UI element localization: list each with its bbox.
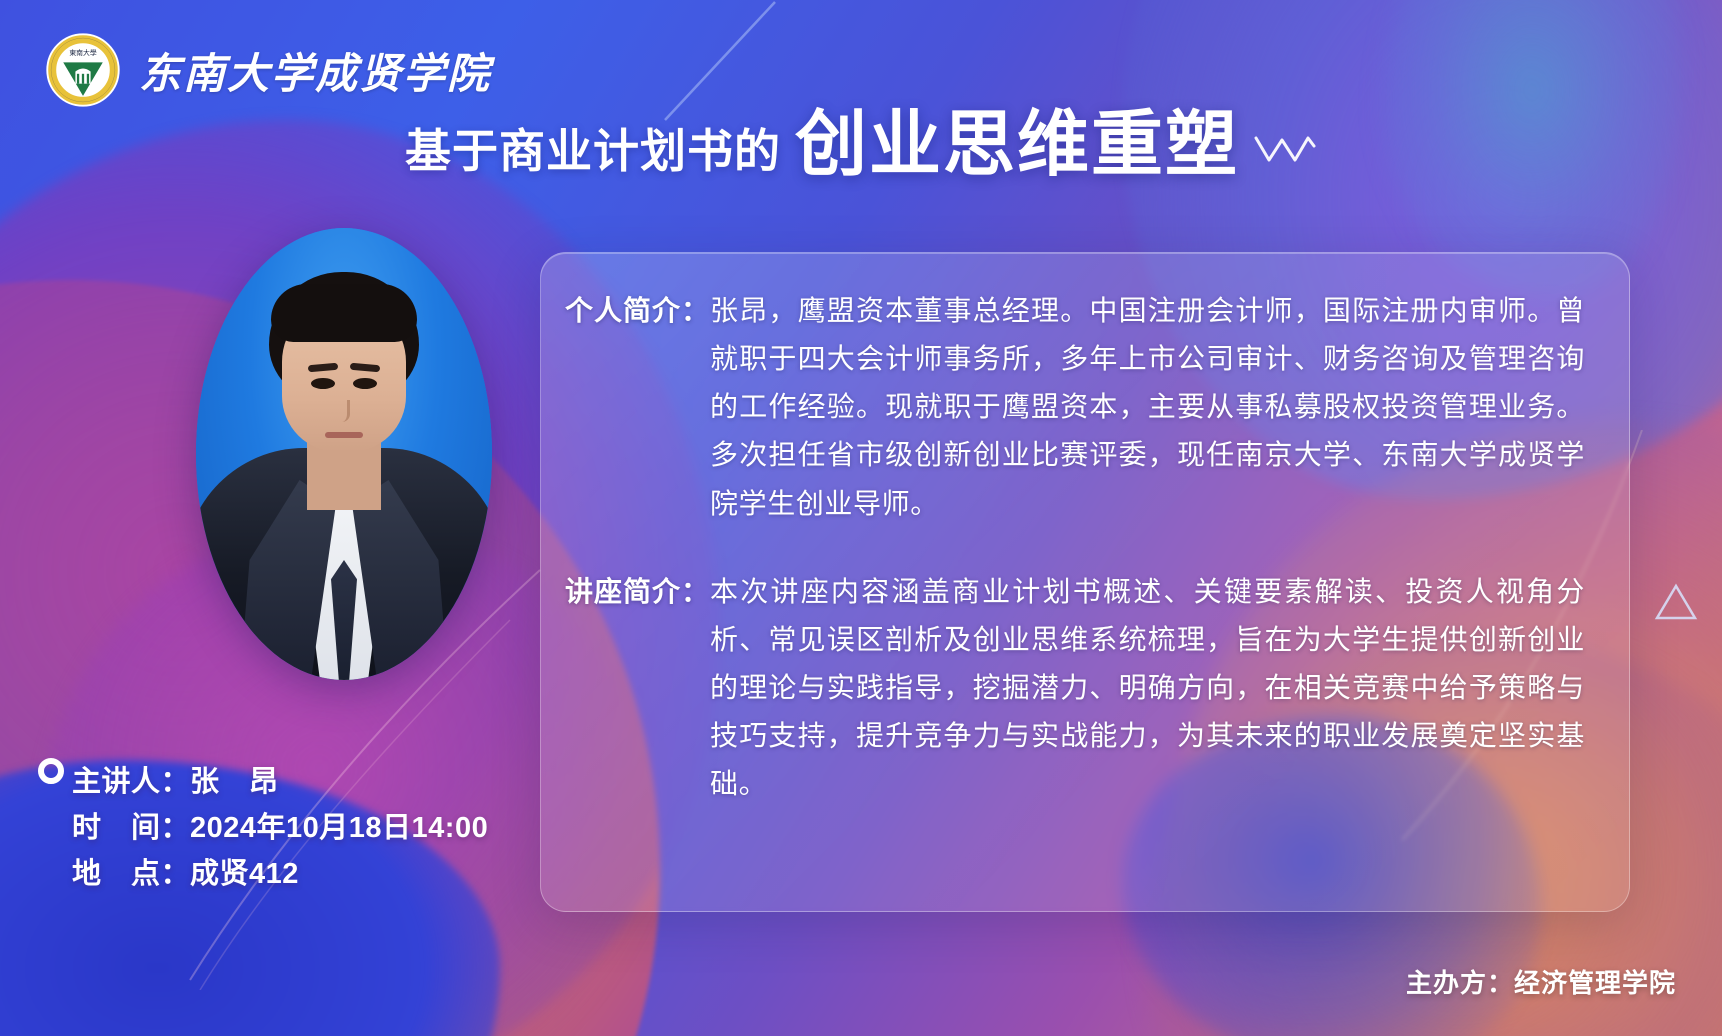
bio-body: 张昂，鹰盟资本董事总经理。中国注册会计师，国际注册内审师。曾就职于四大会计师事务… bbox=[710, 287, 1585, 528]
detail-location: 地 点： 成贤412 bbox=[72, 852, 502, 898]
detail-speaker: 主讲人： 张 昂 bbox=[72, 760, 502, 806]
institution-name: 东南大学成贤学院 bbox=[139, 40, 491, 101]
ring-circle-icon bbox=[38, 758, 64, 784]
zigzag-wave-icon bbox=[1253, 132, 1317, 166]
triangle-outline-icon bbox=[1654, 582, 1698, 622]
detail-speaker-value: 张 昂 bbox=[190, 760, 279, 806]
lecture-section: 讲座简介： 本次讲座内容涵盖商业计划书概述、关键要素解读、投资人视角分析、常见误… bbox=[565, 568, 1585, 809]
detail-time-label: 时 间： bbox=[72, 806, 190, 852]
detail-time: 时 间： 2024年10月18日14:00 bbox=[72, 806, 502, 852]
title-prefix: 基于商业计划书的 bbox=[405, 128, 781, 180]
lecture-label: 讲座简介： bbox=[565, 568, 710, 809]
poster-title: 基于商业计划书的 创业思维重塑 bbox=[0, 108, 1722, 180]
content-panel: 个人简介： 张昂，鹰盟资本董事总经理。中国注册会计师，国际注册内审师。曾就职于四… bbox=[540, 252, 1630, 912]
event-details: 主讲人： 张 昂 时 间： 2024年10月18日14:00 地 点： 成贤41… bbox=[72, 760, 502, 897]
lecture-body: 本次讲座内容涵盖商业计划书概述、关键要素解读、投资人视角分析、常见误区剖析及创业… bbox=[710, 568, 1585, 809]
bio-section: 个人简介： 张昂，鹰盟资本董事总经理。中国注册会计师，国际注册内审师。曾就职于四… bbox=[565, 287, 1585, 528]
detail-time-value: 2024年10月18日14:00 bbox=[190, 806, 488, 852]
bio-label: 个人简介： bbox=[565, 287, 710, 528]
poster-canvas: 東南大學 东南大学成贤学院 基于商业计划书的 创业思维重塑 个人简介： bbox=[0, 0, 1722, 1036]
detail-location-value: 成贤412 bbox=[190, 852, 299, 898]
university-seal-icon: 東南大學 bbox=[45, 32, 121, 108]
speaker-portrait bbox=[196, 228, 492, 680]
organizer-footer: 主办方：经济管理学院 bbox=[1406, 963, 1676, 1000]
svg-text:東南大學: 東南大學 bbox=[69, 48, 96, 57]
title-main: 创业思维重塑 bbox=[795, 108, 1239, 180]
detail-location-label: 地 点： bbox=[72, 852, 190, 898]
detail-speaker-label: 主讲人： bbox=[72, 760, 190, 806]
brand-logo: 東南大學 东南大学成贤学院 bbox=[45, 32, 491, 108]
